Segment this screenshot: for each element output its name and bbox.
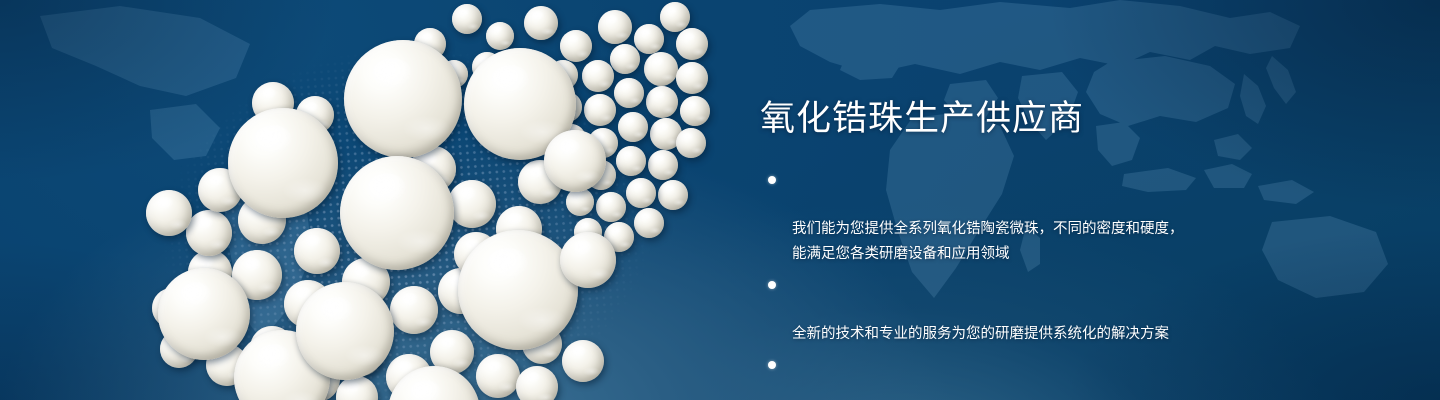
list-item: 我们能为您提供全系列氧化锆陶瓷微珠，不同的密度和硬度， 能满足您各类研磨设备和应… <box>760 167 1380 267</box>
page-title: 氧化锆珠生产供应商 <box>760 100 1380 139</box>
feature-list: 我们能为您提供全系列氧化锆陶瓷微珠，不同的密度和硬度， 能满足您各类研磨设备和应… <box>760 167 1380 400</box>
list-item-text: 我们能为您提供全系列氧化锆陶瓷微珠，不同的密度和硬度， 能满足您各类研磨设备和应… <box>792 221 1184 262</box>
list-item: 采用国际标准的生产工艺，随时为您提供研磨介质产品 <box>760 352 1380 400</box>
bullet-dot-icon <box>768 281 776 289</box>
list-item-text: 全新的技术和专业的服务为您的研磨提供系统化的解决方案 <box>792 326 1169 342</box>
banner-text-block: 氧化锆珠生产供应商 我们能为您提供全系列氧化锆陶瓷微珠，不同的密度和硬度， 能满… <box>760 100 1380 400</box>
list-item: 全新的技术和专业的服务为您的研磨提供系统化的解决方案 <box>760 272 1380 347</box>
zirconia-beads-photo <box>0 0 780 400</box>
bullet-dot-icon <box>768 361 776 369</box>
hero-banner: 氧化锆珠生产供应商 我们能为您提供全系列氧化锆陶瓷微珠，不同的密度和硬度， 能满… <box>0 0 1440 400</box>
bullet-dot-icon <box>768 176 776 184</box>
